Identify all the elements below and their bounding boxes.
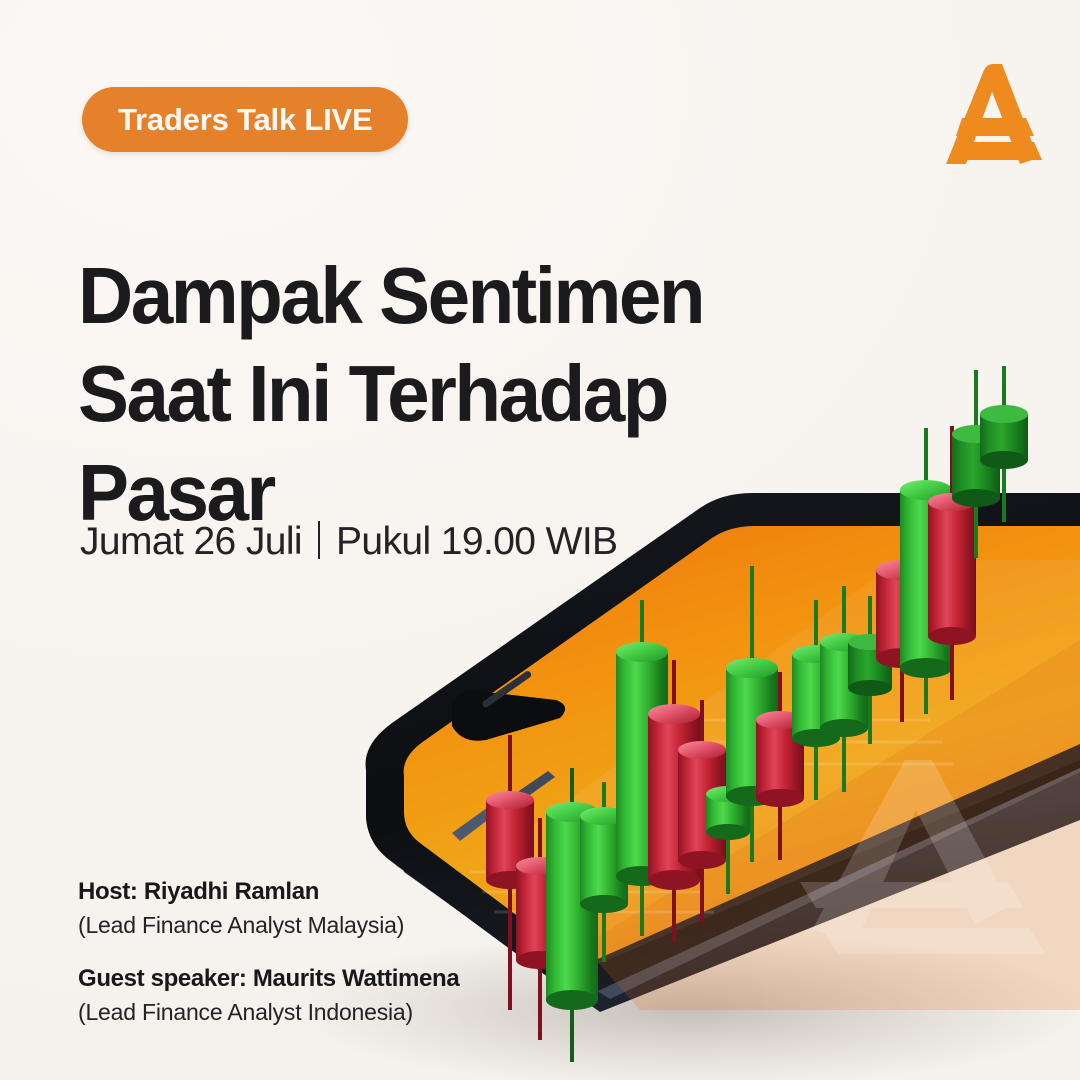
promo-poster: Traders Talk LIVE Dampak Sentimen Saat I…	[0, 0, 1080, 1080]
credits-block: Host: Riyadhi Ramlan (Lead Finance Analy…	[78, 878, 459, 1026]
schedule-line: Jumat 26 Juli Pukul 19.00 WIB	[80, 516, 617, 564]
headline-line-1: Dampak Sentimen	[78, 247, 804, 346]
schedule-time: Pukul 19.00 WIB	[336, 520, 617, 564]
headline-line-2: Saat Ini Terhadap	[78, 345, 804, 444]
credit-host-name: Host: Riyadhi Ramlan	[78, 878, 459, 906]
credit-guest-role: (Lead Finance Analyst Indonesia)	[78, 999, 459, 1026]
schedule-date: Jumat 26 Juli	[80, 520, 302, 564]
live-badge-label: Traders Talk LIVE	[118, 102, 372, 138]
page-title: Dampak Sentimen Saat Ini Terhadap Pasar	[78, 247, 804, 543]
schedule-divider	[318, 521, 320, 559]
credit-guest: Guest speaker: Maurits Wattimena (Lead F…	[78, 965, 459, 1026]
ascendex-a-logo	[940, 62, 1052, 170]
credit-host: Host: Riyadhi Ramlan (Lead Finance Analy…	[78, 878, 459, 939]
credit-guest-name: Guest speaker: Maurits Wattimena	[78, 965, 459, 993]
live-badge[interactable]: Traders Talk LIVE	[82, 87, 408, 152]
credit-host-role: (Lead Finance Analyst Malaysia)	[78, 912, 459, 939]
